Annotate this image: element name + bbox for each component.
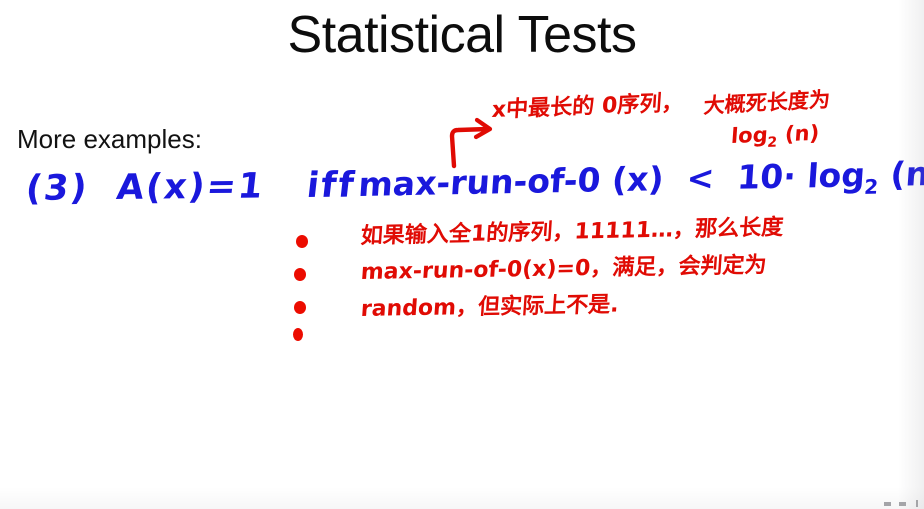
red-annotation-line-1: x中最长的 0序列，: [491, 93, 684, 122]
edge-artifact-mark: [899, 502, 906, 506]
red-annotation-log-base: log: [730, 123, 768, 148]
subheading-more-examples: More examples:: [17, 124, 202, 155]
page-title: Statistical Tests: [0, 8, 924, 63]
edge-artifact-mark: [916, 500, 918, 507]
slide-canvas: Statistical Tests More examples: x中最长的 0…: [0, 0, 924, 509]
blue-formula-log-subscript: 2: [863, 175, 879, 199]
bullet-dot: [293, 328, 303, 341]
bullet-dot: [294, 301, 306, 314]
blue-formula-max-run-of-0: max-run-of-0 (x) < 10· log2 (n): [357, 157, 924, 207]
bullet-dot: [296, 235, 308, 248]
red-comment-line-1: 如果输入全1的序列，11111…，那么长度: [360, 217, 784, 248]
red-annotation-line-2: 大概死长度为: [703, 89, 831, 117]
red-comment-line-3: random，但实际上不是.: [360, 295, 619, 321]
blue-item-label-3: (3) A(x)=1 iff: [24, 169, 357, 207]
edge-artifact-mark: [884, 502, 891, 506]
blue-formula-right: (n): [878, 154, 924, 194]
red-comment-line-2: max-run-of-0(x)=0，满足，会判定为: [360, 255, 767, 284]
bullet-dot: [294, 268, 306, 281]
blue-formula-left: max-run-of-0 (x) < 10· log: [357, 155, 866, 204]
red-annotation-log-tail: (n): [777, 121, 820, 146]
red-annotation-line-3: log2 (n): [730, 123, 820, 151]
